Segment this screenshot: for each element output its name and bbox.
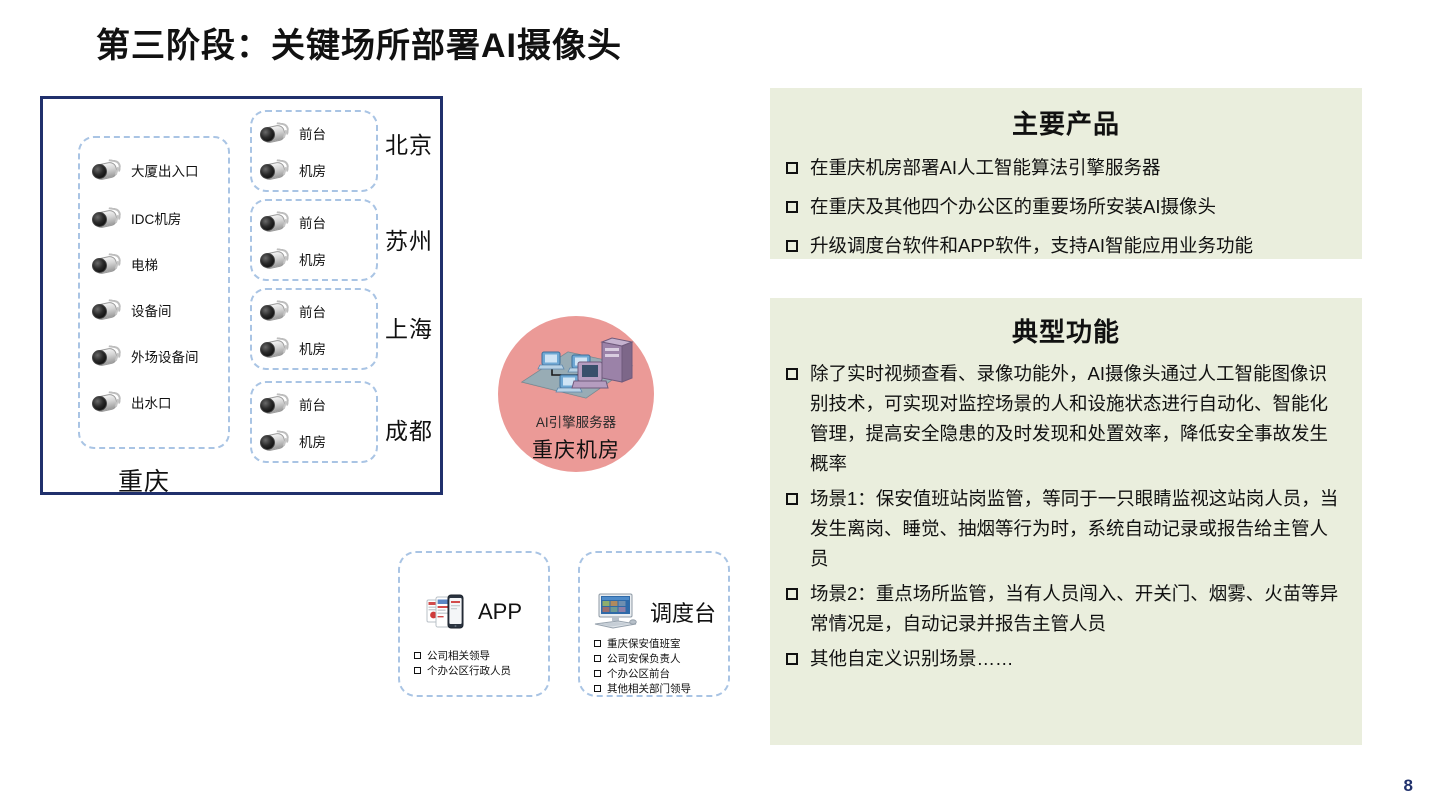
city-group-beijing: 前台 机房 bbox=[250, 110, 378, 192]
panel-item-text: 升级调度台软件和APP软件，支持AI智能应用业务功能 bbox=[810, 231, 1340, 261]
camera-row-suzhou-1: 前台 bbox=[260, 212, 326, 232]
bullet-square-icon bbox=[594, 640, 601, 647]
camera-icon bbox=[260, 212, 290, 232]
camera-label: 前台 bbox=[299, 212, 326, 232]
list-item: 重庆保安值班室 bbox=[594, 637, 720, 652]
panel-title: 主要产品 bbox=[770, 88, 1362, 141]
camera-label: 外场设备间 bbox=[131, 346, 199, 366]
camera-row-chongqing-6: 出水口 bbox=[92, 392, 172, 412]
bullet-square-icon bbox=[786, 201, 798, 213]
camera-label: 前台 bbox=[299, 394, 326, 414]
bullet-square-icon bbox=[414, 667, 421, 674]
camera-row-beijing-2: 机房 bbox=[260, 160, 326, 180]
camera-label: 机房 bbox=[299, 338, 326, 358]
bullet-square-icon bbox=[786, 653, 798, 665]
client-box-app: APP 公司相关领导 个办公区行政人员 bbox=[398, 551, 550, 697]
panel-main-products: 主要产品 在重庆机房部署AI人工智能算法引擎服务器 在重庆及其他四个办公区的重要… bbox=[770, 88, 1362, 259]
dispatch-user-list: 重庆保安值班室 公司安保负责人 个办公区前台 其他相关部门领导 bbox=[594, 637, 720, 697]
list-item: 其他自定义识别场景…… bbox=[770, 644, 1362, 674]
camera-row-chongqing-5: 外场设备间 bbox=[92, 346, 199, 366]
camera-icon bbox=[92, 254, 122, 274]
camera-icon bbox=[92, 346, 122, 366]
camera-row-chengdu-1: 前台 bbox=[260, 394, 326, 414]
dispatch-user: 重庆保安值班室 bbox=[607, 637, 681, 652]
camera-icon bbox=[92, 300, 122, 320]
city-name-chengdu: 成都 bbox=[385, 412, 433, 446]
camera-row-chongqing-1: 大厦出入口 bbox=[92, 160, 199, 180]
app-user-list: 公司相关领导 个办公区行政人员 bbox=[414, 649, 540, 679]
app-header: APP bbox=[400, 591, 548, 633]
ai-engine-server-node: AI引擎服务器 重庆机房 bbox=[498, 316, 654, 472]
dispatch-user: 其他相关部门领导 bbox=[607, 682, 691, 697]
panel-item-text: 其他自定义识别场景…… bbox=[810, 644, 1340, 674]
dispatch-name: 调度台 bbox=[650, 596, 716, 628]
camera-icon bbox=[92, 392, 122, 412]
list-item: 除了实时视频查看、录像功能外，AI摄像头通过人工智能图像识别技术，可实现对监控场… bbox=[770, 359, 1362, 479]
camera-icon bbox=[260, 160, 290, 180]
bullet-square-icon bbox=[786, 162, 798, 174]
camera-row-chongqing-4: 设备间 bbox=[92, 300, 172, 320]
list-item: 升级调度台软件和APP软件，支持AI智能应用业务功能 bbox=[770, 231, 1362, 261]
camera-label: 设备间 bbox=[131, 300, 172, 320]
bullet-square-icon bbox=[786, 368, 798, 380]
app-user: 公司相关领导 bbox=[427, 649, 490, 664]
city-group-suzhou: 前台 机房 bbox=[250, 199, 378, 281]
page-number: 8 bbox=[1404, 776, 1413, 796]
panel-title: 典型功能 bbox=[770, 298, 1362, 349]
camera-icon bbox=[260, 301, 290, 321]
list-item: 个办公区行政人员 bbox=[414, 664, 540, 679]
camera-icon bbox=[260, 431, 290, 451]
camera-row-suzhou-2: 机房 bbox=[260, 249, 326, 269]
camera-label: 电梯 bbox=[131, 254, 158, 274]
camera-icon bbox=[260, 394, 290, 414]
app-user: 个办公区行政人员 bbox=[427, 664, 511, 679]
panel-item-text: 除了实时视频查看、录像功能外，AI摄像头通过人工智能图像识别技术，可实现对监控场… bbox=[810, 359, 1340, 479]
panel-item-text: 场景2：重点场所监管，当有人员闯入、开关门、烟雾、火苗等异常情况是，自动记录并报… bbox=[810, 579, 1340, 639]
camera-row-chongqing-3: 电梯 bbox=[92, 254, 158, 274]
list-item: 场景2：重点场所监管，当有人员闯入、开关门、烟雾、火苗等异常情况是，自动记录并报… bbox=[770, 579, 1362, 639]
city-name-shanghai: 上海 bbox=[385, 310, 433, 344]
camera-row-chengdu-2: 机房 bbox=[260, 431, 326, 451]
list-item: 公司安保负责人 bbox=[594, 652, 720, 667]
server-caption: AI引擎服务器 bbox=[498, 411, 654, 431]
chongqing-location-group: 大厦出入口 IDC机房 电梯 设备间 外场设备间 出水口 bbox=[78, 136, 230, 449]
list-item: 在重庆机房部署AI人工智能算法引擎服务器 bbox=[770, 153, 1362, 183]
city-name-beijing: 北京 bbox=[385, 126, 433, 160]
app-name: APP bbox=[478, 599, 522, 625]
bullet-square-icon bbox=[594, 655, 601, 662]
camera-label: 大厦出入口 bbox=[131, 160, 199, 180]
mobile-phone-icon bbox=[426, 591, 468, 633]
camera-icon bbox=[260, 249, 290, 269]
list-item: 公司相关领导 bbox=[414, 649, 540, 664]
camera-row-shanghai-2: 机房 bbox=[260, 338, 326, 358]
camera-label: IDC机房 bbox=[131, 208, 181, 228]
server-rack-icon bbox=[516, 332, 636, 402]
slide-root: 第三阶段：关键场所部署AI摄像头 大厦出入口 IDC机房 电梯 设备间 外场设备… bbox=[0, 0, 1440, 812]
dispatch-user: 个办公区前台 bbox=[607, 667, 670, 682]
city-name-suzhou: 苏州 bbox=[385, 222, 433, 256]
page-title: 第三阶段：关键场所部署AI摄像头 bbox=[96, 18, 622, 67]
client-box-dispatch: 调度台 重庆保安值班室 公司安保负责人 个办公区前台 其他相关部门领导 bbox=[578, 551, 730, 697]
city-group-shanghai: 前台 机房 bbox=[250, 288, 378, 370]
camera-icon bbox=[260, 338, 290, 358]
camera-label: 前台 bbox=[299, 123, 326, 143]
bullet-square-icon bbox=[786, 493, 798, 505]
camera-row-chongqing-2: IDC机房 bbox=[92, 208, 181, 228]
list-item: 在重庆及其他四个办公区的重要场所安装AI摄像头 bbox=[770, 192, 1362, 222]
camera-label: 机房 bbox=[299, 160, 326, 180]
bullet-square-icon bbox=[594, 670, 601, 677]
camera-row-shanghai-1: 前台 bbox=[260, 301, 326, 321]
panel-item-text: 场景1：保安值班站岗监管，等同于一只眼睛监视这站岗人员，当发生离岗、睡觉、抽烟等… bbox=[810, 484, 1340, 574]
camera-label: 前台 bbox=[299, 301, 326, 321]
list-item: 个办公区前台 bbox=[594, 667, 720, 682]
dispatch-user: 公司安保负责人 bbox=[607, 652, 681, 667]
panel-item-text: 在重庆机房部署AI人工智能算法引擎服务器 bbox=[810, 153, 1340, 183]
camera-icon bbox=[92, 208, 122, 228]
bullet-square-icon bbox=[786, 588, 798, 600]
bullet-square-icon bbox=[594, 685, 601, 692]
city-group-chengdu: 前台 机房 bbox=[250, 381, 378, 463]
camera-label: 出水口 bbox=[131, 392, 172, 412]
panel-list: 在重庆机房部署AI人工智能算法引擎服务器 在重庆及其他四个办公区的重要场所安装A… bbox=[770, 153, 1362, 261]
dispatch-header: 调度台 bbox=[580, 591, 728, 633]
list-item: 其他相关部门领导 bbox=[594, 682, 720, 697]
camera-icon bbox=[92, 160, 122, 180]
bullet-square-icon bbox=[414, 652, 421, 659]
panel-item-text: 在重庆及其他四个办公区的重要场所安装AI摄像头 bbox=[810, 192, 1340, 222]
server-location: 重庆机房 bbox=[498, 434, 654, 464]
camera-row-beijing-1: 前台 bbox=[260, 123, 326, 143]
bullet-square-icon bbox=[786, 240, 798, 252]
list-item: 场景1：保安值班站岗监管，等同于一只眼睛监视这站岗人员，当发生离岗、睡觉、抽烟等… bbox=[770, 484, 1362, 574]
panel-list: 除了实时视频查看、录像功能外，AI摄像头通过人工智能图像识别技术，可实现对监控场… bbox=[770, 359, 1362, 674]
camera-label: 机房 bbox=[299, 249, 326, 269]
camera-icon bbox=[260, 123, 290, 143]
desktop-monitor-icon bbox=[592, 591, 640, 633]
region-label-chongqing: 重庆 bbox=[118, 462, 170, 498]
panel-typical-functions: 典型功能 除了实时视频查看、录像功能外，AI摄像头通过人工智能图像识别技术，可实… bbox=[770, 298, 1362, 745]
camera-label: 机房 bbox=[299, 431, 326, 451]
